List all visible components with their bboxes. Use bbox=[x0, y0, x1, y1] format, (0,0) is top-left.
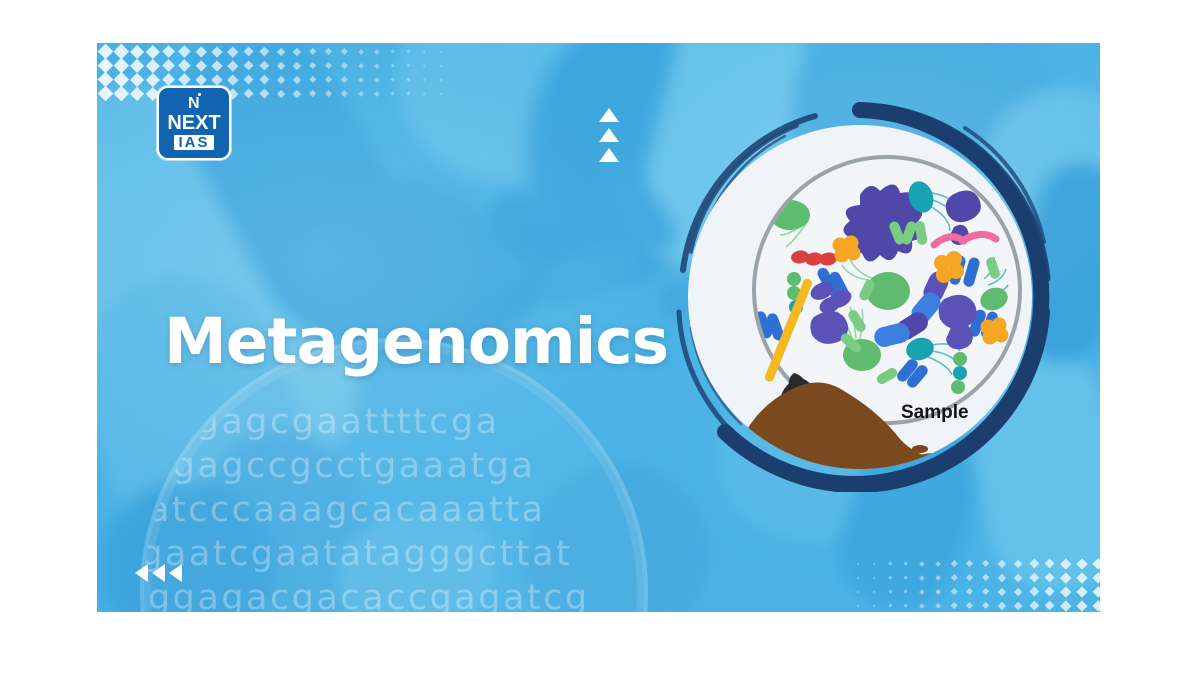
halftone-diamond bbox=[1060, 586, 1071, 597]
halftone-diamond bbox=[130, 87, 144, 101]
halftone-diamond bbox=[358, 49, 364, 55]
halftone-diamond bbox=[966, 588, 973, 595]
halftone-diamond bbox=[1060, 558, 1071, 569]
halftone-diamond bbox=[260, 61, 269, 70]
halftone-diamond bbox=[195, 74, 207, 86]
halftone-diamond bbox=[374, 49, 379, 54]
halftone-diamond bbox=[407, 92, 411, 96]
halftone-diamond bbox=[1045, 573, 1055, 583]
halftone-row bbox=[97, 85, 449, 99]
halftone-row bbox=[850, 597, 1100, 611]
halftone-diamond bbox=[439, 78, 442, 81]
halftone-diamond bbox=[1076, 558, 1087, 569]
halftone-diamond bbox=[244, 89, 254, 99]
dna-sequence-line: aggagacgacaccgagatcg bbox=[140, 576, 648, 612]
halftone-diamond bbox=[293, 62, 301, 70]
triangle-up-group bbox=[599, 108, 619, 162]
halftone-diamond bbox=[857, 604, 860, 607]
halftone-top-left bbox=[97, 43, 449, 99]
dish-outer-plate bbox=[688, 125, 1032, 469]
triangle-left-group bbox=[135, 564, 182, 582]
halftone-diamond bbox=[244, 75, 254, 85]
halftone-diamond bbox=[888, 576, 892, 580]
halftone-diamond bbox=[423, 78, 426, 81]
halftone-diamond bbox=[423, 50, 426, 53]
halftone-diamond bbox=[227, 74, 238, 85]
halftone-diamond bbox=[935, 575, 941, 581]
dna-sequence-line: tgaatcgaatatagggcttat bbox=[140, 532, 648, 576]
halftone-diamond bbox=[325, 62, 332, 69]
halftone-row bbox=[97, 71, 449, 85]
banner-background: aaggagcgaattttcgaaggagccgcctgaaatgaaatcc… bbox=[97, 43, 1100, 612]
dna-sequence-line: aatcccaaagcacaaatta bbox=[140, 488, 648, 532]
halftone-diamond bbox=[276, 47, 285, 56]
halftone-diamond bbox=[358, 63, 364, 69]
halftone-diamond bbox=[982, 602, 990, 610]
triangle-up-icon bbox=[599, 128, 619, 142]
halftone-diamond bbox=[260, 47, 269, 56]
halftone-diamond bbox=[390, 77, 395, 82]
halftone-diamond bbox=[966, 574, 973, 581]
logo-dot-icon bbox=[198, 93, 201, 96]
halftone-diamond bbox=[888, 590, 892, 594]
halftone-diamond bbox=[998, 602, 1006, 610]
halftone-diamond bbox=[951, 603, 957, 609]
halftone-diamond bbox=[1092, 558, 1100, 570]
halftone-diamond bbox=[341, 77, 347, 83]
halftone-diamond bbox=[872, 576, 875, 579]
dna-sequence-text: aaggagcgaattttcgaaggagccgcctgaaatgaaatcc… bbox=[140, 400, 648, 612]
petri-dish-illustration: Sample bbox=[665, 102, 1055, 572]
halftone-diamond bbox=[309, 90, 317, 98]
halftone-diamond bbox=[904, 589, 909, 594]
triangle-left-icon bbox=[135, 564, 148, 582]
halftone-diamond bbox=[341, 49, 347, 55]
halftone-diamond bbox=[341, 91, 347, 97]
halftone-diamond bbox=[1029, 587, 1038, 596]
halftone-diamond bbox=[919, 603, 924, 608]
halftone-diamond bbox=[244, 61, 254, 71]
halftone-diamond bbox=[998, 574, 1006, 582]
halftone-diamond bbox=[1045, 601, 1055, 611]
halftone-diamond bbox=[904, 575, 909, 580]
halftone-diamond bbox=[888, 604, 892, 608]
halftone-row bbox=[850, 583, 1100, 597]
halftone-row bbox=[97, 57, 449, 71]
halftone-diamond bbox=[919, 589, 924, 594]
halftone-diamond bbox=[439, 64, 442, 67]
halftone-diamond bbox=[407, 50, 411, 54]
halftone-diamond bbox=[1013, 587, 1022, 596]
page-title: Metagenomics bbox=[164, 305, 668, 378]
halftone-diamond bbox=[966, 602, 973, 609]
halftone-diamond bbox=[982, 574, 990, 582]
halftone-diamond bbox=[293, 76, 301, 84]
next-ias-logo[interactable]: N NEXT IAS bbox=[157, 86, 231, 160]
logo-line-3: IAS bbox=[174, 135, 213, 150]
halftone-diamond bbox=[341, 63, 347, 69]
halftone-diamond bbox=[227, 60, 238, 71]
triangle-left-icon bbox=[169, 564, 182, 582]
triangle-left-icon bbox=[152, 564, 165, 582]
halftone-diamond bbox=[309, 62, 317, 70]
halftone-diamond bbox=[935, 589, 941, 595]
halftone-diamond bbox=[309, 48, 317, 56]
halftone-diamond bbox=[390, 49, 395, 54]
halftone-diamond bbox=[260, 89, 269, 98]
poster-canvas: aaggagcgaattttcgaaggagccgcctgaaatgaaatcc… bbox=[0, 0, 1200, 675]
halftone-diamond bbox=[293, 48, 301, 56]
halftone-diamond bbox=[998, 588, 1006, 596]
halftone-diamond bbox=[1076, 586, 1087, 597]
halftone-diamond bbox=[244, 47, 254, 57]
halftone-diamond bbox=[1092, 600, 1100, 612]
halftone-row bbox=[97, 43, 449, 57]
halftone-diamond bbox=[951, 575, 957, 581]
halftone-diamond bbox=[439, 92, 442, 95]
halftone-diamond bbox=[325, 76, 332, 83]
halftone-diamond bbox=[857, 590, 860, 593]
triangle-up-icon bbox=[599, 148, 619, 162]
halftone-diamond bbox=[1076, 600, 1087, 611]
halftone-diamond bbox=[872, 590, 875, 593]
halftone-diamond bbox=[276, 89, 285, 98]
halftone-diamond bbox=[195, 46, 207, 58]
logo-line-2: NEXT bbox=[167, 113, 220, 133]
halftone-diamond bbox=[211, 74, 222, 85]
halftone-diamond bbox=[390, 91, 395, 96]
halftone-diamond bbox=[325, 90, 332, 97]
halftone-diamond bbox=[211, 60, 222, 71]
halftone-diamond bbox=[407, 78, 411, 82]
logo-line-1: N bbox=[188, 96, 200, 112]
halftone-diamond bbox=[1060, 572, 1071, 583]
halftone-diamond bbox=[227, 46, 238, 57]
halftone-diamond bbox=[423, 92, 426, 95]
halftone-diamond bbox=[260, 75, 269, 84]
halftone-diamond bbox=[935, 603, 941, 609]
halftone-diamond bbox=[1092, 572, 1100, 584]
halftone-diamond bbox=[374, 63, 379, 68]
halftone-diamond bbox=[374, 77, 379, 82]
halftone-diamond bbox=[951, 589, 957, 595]
halftone-diamond bbox=[857, 576, 860, 579]
halftone-diamond bbox=[407, 64, 411, 68]
halftone-diamond bbox=[423, 64, 426, 67]
halftone-diamond bbox=[919, 575, 924, 580]
halftone-diamond bbox=[276, 75, 285, 84]
dna-sequence-line: aaggagcgaattttcga bbox=[140, 400, 648, 444]
halftone-diamond bbox=[211, 46, 222, 57]
triangle-up-icon bbox=[599, 108, 619, 122]
halftone-diamond bbox=[982, 588, 990, 596]
halftone-diamond bbox=[1076, 572, 1087, 583]
sample-label: Sample bbox=[901, 402, 969, 424]
halftone-diamond bbox=[293, 90, 301, 98]
halftone-diamond bbox=[439, 50, 442, 53]
halftone-diamond bbox=[872, 604, 875, 607]
halftone-diamond bbox=[1029, 573, 1038, 582]
halftone-diamond bbox=[113, 86, 128, 101]
halftone-diamond bbox=[1029, 601, 1038, 610]
halftone-diamond bbox=[1060, 600, 1071, 611]
halftone-diamond bbox=[276, 61, 285, 70]
halftone-diamond bbox=[358, 91, 364, 97]
halftone-diamond bbox=[1045, 587, 1055, 597]
halftone-diamond bbox=[1013, 573, 1022, 582]
halftone-diamond bbox=[1013, 601, 1022, 610]
halftone-diamond bbox=[374, 91, 379, 96]
halftone-diamond bbox=[195, 60, 207, 72]
dna-sequence-line: aggagccgcctgaaatga bbox=[140, 444, 648, 488]
halftone-diamond bbox=[904, 603, 909, 608]
halftone-diamond bbox=[1092, 586, 1100, 598]
halftone-diamond bbox=[309, 76, 317, 84]
halftone-diamond bbox=[390, 63, 395, 68]
halftone-diamond bbox=[358, 77, 364, 83]
halftone-diamond bbox=[325, 48, 332, 55]
